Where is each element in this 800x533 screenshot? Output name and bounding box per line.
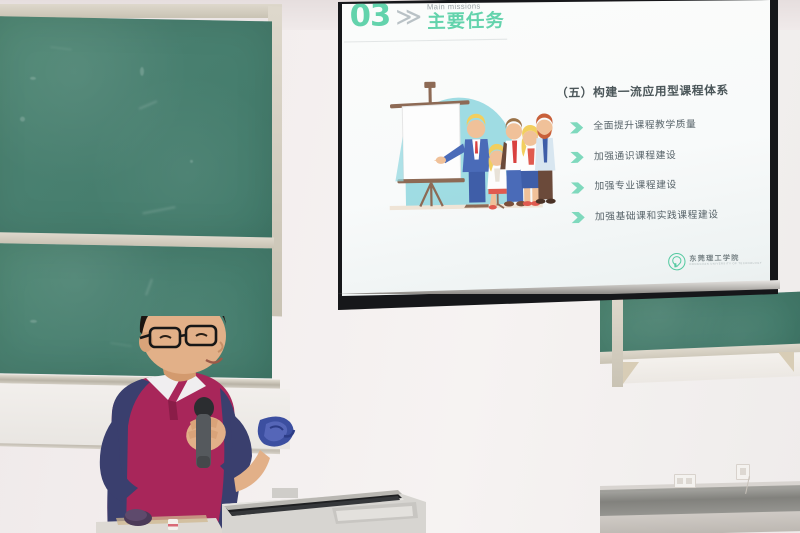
bullet-item: 加强通识课程建设 [570, 146, 717, 163]
blue-cloth [258, 416, 294, 446]
lectern-podium [96, 478, 426, 533]
university-emblem-icon [668, 253, 686, 271]
slide-header-divider [344, 39, 507, 43]
chevron-bullet-icon [570, 119, 584, 130]
slide-section-title: （五）构建一流应用型课程体系 [556, 82, 729, 101]
bullet-label: 全面提升课程教学质量 [593, 116, 696, 132]
chalkboard-panel-upper [0, 16, 272, 239]
microphone [194, 397, 214, 468]
slide-title-cn: 主要任务 [427, 11, 505, 31]
bullet-item: 加强基础课和实践课程建设 [571, 206, 718, 223]
slide-bullet-list: 全面提升课程教学质量 加强通识课程建设 加强专业课程建设 [570, 116, 719, 223]
business-presentation-illustration [361, 70, 558, 237]
power-socket-double [674, 474, 696, 488]
double-chevron-icon: ≫ [395, 4, 422, 30]
university-logo: 东莞理工学院 DONGGUAN UNIVERSITY OF TECHNOLOGY [668, 252, 762, 271]
bullet-label: 加强专业课程建设 [594, 176, 677, 192]
chevron-bullet-icon [570, 150, 584, 161]
floor [600, 511, 800, 533]
bullet-label: 加强基础课和实践课程建设 [595, 206, 719, 222]
projection-screen: 03 ≫ Main missions 主要任务 [332, 0, 778, 310]
slide-header: 03 ≫ Main missions 主要任务 [349, 0, 504, 32]
chevron-bullet-icon [571, 180, 585, 191]
bullet-item: 加强专业课程建设 [571, 176, 718, 193]
slide-section-number: 03 [349, 2, 390, 32]
photo-scene: 03 ≫ Main missions 主要任务 [0, 0, 800, 533]
university-name-en: DONGGUAN UNIVERSITY OF TECHNOLOGY [689, 263, 762, 267]
presentation-slide: 03 ≫ Main missions 主要任务 [342, 0, 770, 296]
chalkboard-frame-outer [0, 4, 282, 18]
chevron-bullet-icon [571, 210, 585, 221]
bullet-item: 全面提升课程教学质量 [570, 116, 717, 133]
bullet-label: 加强通识课程建设 [594, 146, 677, 162]
